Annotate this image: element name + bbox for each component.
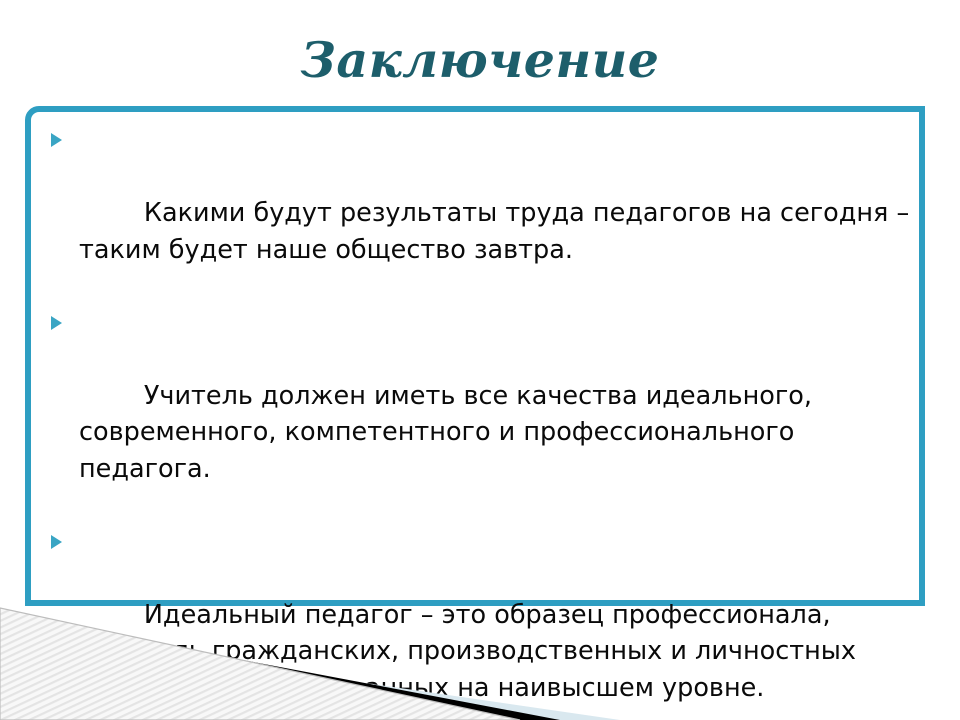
list-item: Идеальный педагог – это образец професси…	[47, 524, 915, 720]
slide: Заключение Какими будут результаты труда…	[0, 0, 960, 720]
list-item: Учитель должен иметь все качества идеаль…	[47, 305, 915, 524]
triangle-right-bullet-icon	[51, 133, 62, 147]
bullet-list: Какими будут результаты труда педагогов …	[47, 122, 915, 720]
triangle-right-bullet-icon	[51, 316, 62, 330]
list-item-text: Какими будут результаты труда педагогов …	[79, 198, 917, 265]
list-item-text: Идеальный педагог – это образец професси…	[79, 600, 864, 703]
page-title: Заключение	[0, 30, 960, 90]
list-item: Какими будут результаты труда педагогов …	[47, 122, 915, 305]
list-item-text: Учитель должен иметь все качества идеаль…	[79, 381, 820, 484]
content-frame: Какими будут результаты труда педагогов …	[25, 106, 925, 606]
triangle-right-bullet-icon	[51, 535, 62, 549]
